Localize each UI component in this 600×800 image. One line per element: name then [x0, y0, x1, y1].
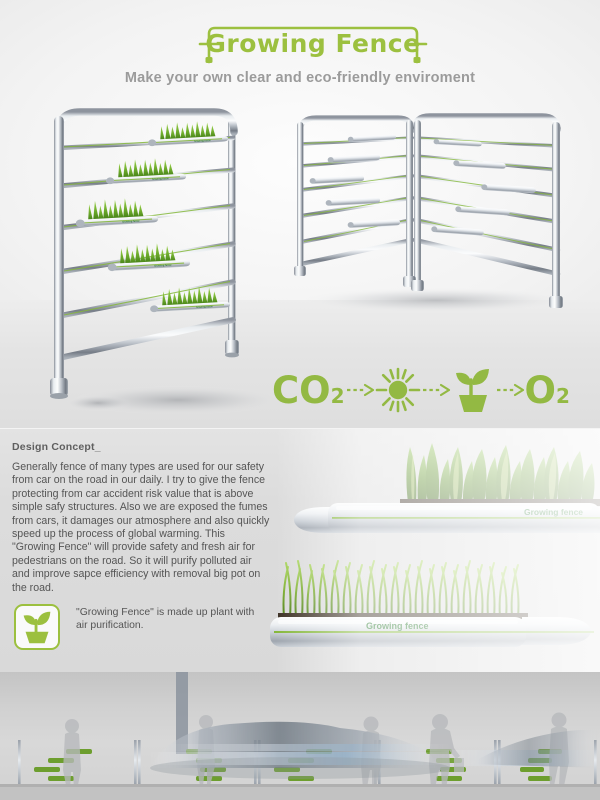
dashed-arrow-icon	[495, 380, 525, 400]
pot-caption: "Growing Fence" is made up plant with ai…	[76, 606, 256, 632]
logo-text: Growing Fence	[195, 24, 431, 64]
dashed-arrow-icon	[421, 380, 451, 400]
hero-section: Growing Fence Make your own clear and ec…	[0, 0, 600, 428]
planter-pod: Growing fence Growing fence	[75, 120, 231, 313]
brand-logo: Growing Fence	[195, 24, 431, 66]
co2-label: CO2	[272, 372, 345, 409]
potted-plant-icon	[451, 366, 495, 414]
tagline: Make your own clear and eco-friendly env…	[0, 70, 600, 86]
pot-badge	[14, 604, 60, 650]
concept-title: Design Concept_	[12, 441, 101, 453]
o2-label: O2	[525, 372, 570, 409]
dashed-arrow-icon	[345, 380, 375, 400]
design-concept-section: Growing fence	[0, 428, 600, 672]
street-scene-render	[0, 672, 600, 800]
double-fence-render	[286, 104, 588, 322]
single-fence-render: Growing fence Growing fence	[28, 100, 280, 422]
planter-pod-grass-render: Growing fence	[270, 555, 600, 667]
street-scene-svg	[0, 672, 600, 800]
photosynthesis-diagram: CO2	[272, 358, 596, 422]
pod-label: Growing fence	[366, 621, 429, 631]
poster-page: Growing Fence Make your own clear and ec…	[0, 0, 600, 800]
concept-body: Generally fence of many types are used f…	[12, 461, 270, 595]
potted-plant-icon	[16, 606, 58, 648]
sun-icon	[375, 367, 421, 413]
planter-pod-leafy-render: Growing fence	[292, 441, 600, 549]
pod-label: Growing fence	[524, 507, 583, 517]
